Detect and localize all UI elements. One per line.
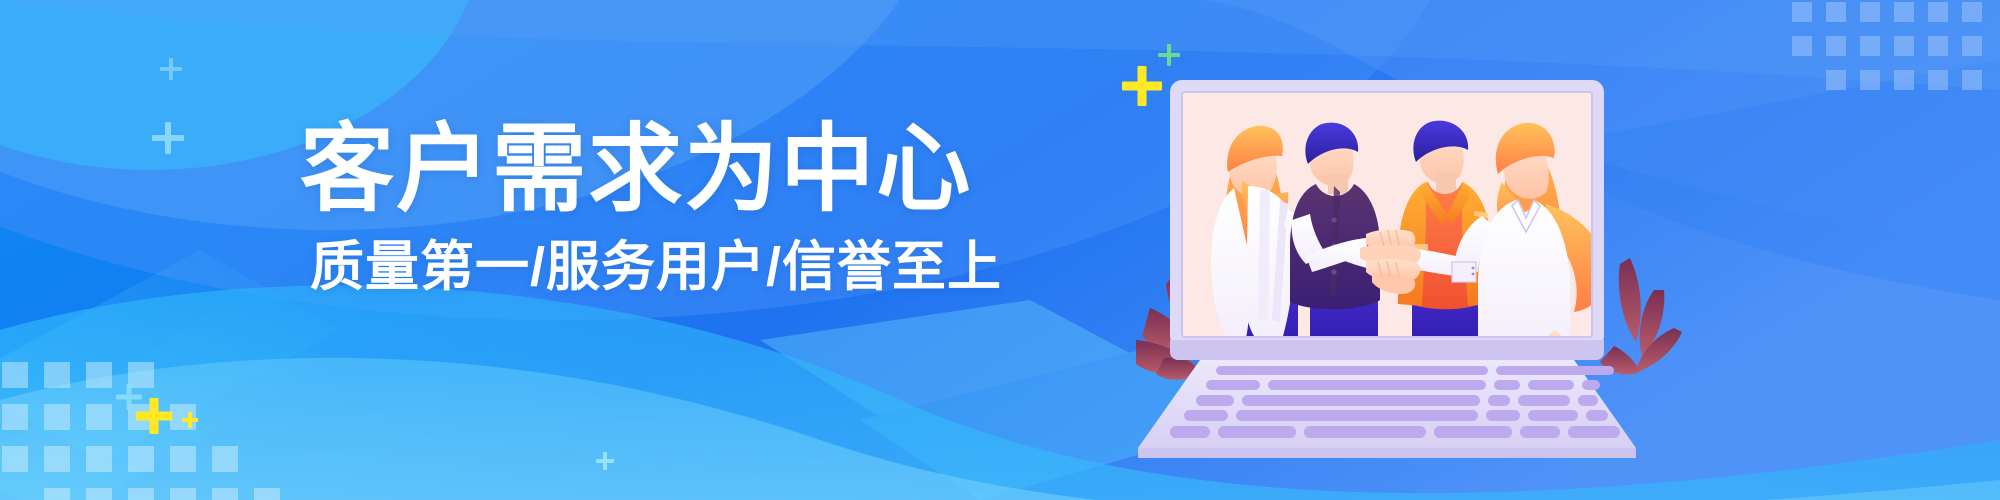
laptop-keyboard [1138, 360, 1636, 458]
plus-yellow-tiny-icon [182, 412, 198, 428]
plus-yellow-large-icon [1122, 66, 1162, 106]
plus-cyan-medium-icon [152, 122, 184, 154]
plus-yellow-bottom-icon [136, 398, 172, 434]
leaf-cluster-right [1600, 258, 1682, 374]
plus-cyan-right-icon [596, 452, 614, 470]
page-title: 客户需求为中心 [300, 118, 1045, 222]
promo-banner: 客户需求为中心 质量第一/服务用户/信誉至上 [0, 0, 2000, 500]
laptop-team-illustration [1130, 40, 1690, 460]
page-subtitle: 质量第一/服务用户/信誉至上 [310, 236, 1060, 298]
plus-green-small-icon [1158, 44, 1180, 66]
plus-cyan-small-top-icon [160, 58, 182, 80]
headline-block: 客户需求为中心 质量第一/服务用户/信誉至上 [300, 118, 1060, 298]
dot-grid-top-right [1792, 2, 1982, 90]
